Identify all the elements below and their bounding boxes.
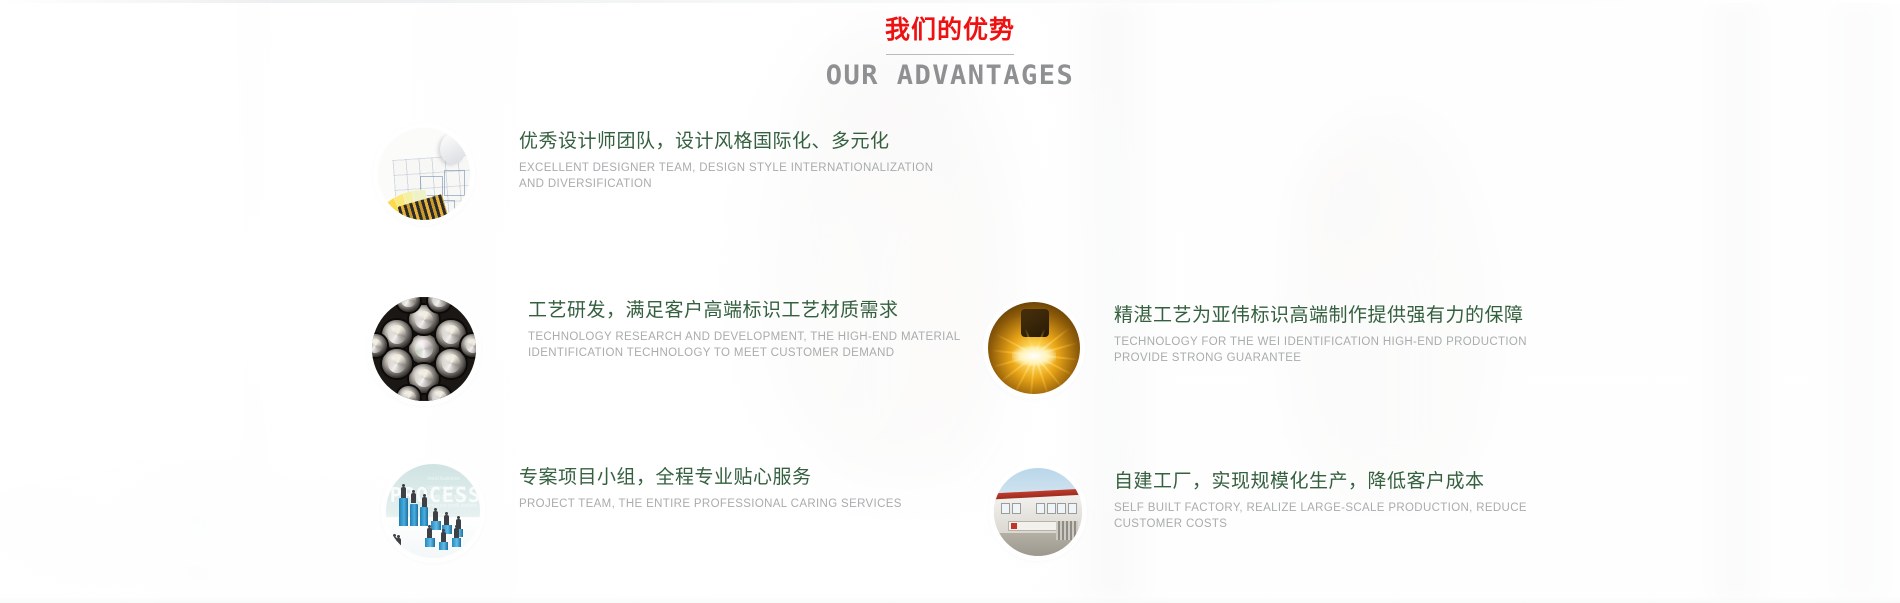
welding-sparks-photo xyxy=(988,302,1080,394)
section-header: 我们的优势 OUR ADVANTAGES xyxy=(0,18,1900,89)
advantage-copy-own-factory: 自建工厂，实现规模化生产，降低客户成本 SELF BUILT FACTORY, … xyxy=(1114,468,1584,533)
advantage-heading: 优秀设计师团队，设计风格国际化、多元化 xyxy=(519,130,989,154)
advantage-item-own-factory[interactable]: 自建工厂，实现规模化生产，降低客户成本 SELF BUILT FACTORY, … xyxy=(994,468,1584,556)
advantage-thumbnail-technology-rnd xyxy=(372,297,476,401)
advantage-thumbnail-exquisite-craft xyxy=(988,302,1080,394)
advantage-copy-project-team: 专案项目小组，全程专业贴心服务 PROJECT TEAM, THE ENTIRE… xyxy=(519,464,989,512)
advantage-thumbnail-designer-team xyxy=(378,128,470,220)
advantage-subtext-line1: EXCELLENT DESIGNER TEAM, DESIGN STYLE IN… xyxy=(519,160,989,177)
advantage-copy-designer-team: 优秀设计师团队，设计风格国际化、多元化 EXCELLENT DESIGNER T… xyxy=(519,128,989,193)
advantage-heading: 专案项目小组，全程专业贴心服务 xyxy=(519,466,989,490)
advantage-item-designer-team[interactable]: 优秀设计师团队，设计风格国际化、多元化 EXCELLENT DESIGNER T… xyxy=(378,128,989,220)
factory-building-photo xyxy=(994,468,1082,556)
advantage-item-project-team[interactable]: PROCESS trend business corporate finance… xyxy=(386,464,989,558)
advantage-subtext-line1: TECHNOLOGY FOR THE WEI IDENTIFICATION HI… xyxy=(1114,334,1594,351)
advantage-subtext-line2: IDENTIFICATION TECHNOLOGY TO MEET CUSTOM… xyxy=(528,345,1008,362)
advantage-item-technology-rnd[interactable]: 工艺研发，满足客户高端标识工艺材质需求 TECHNOLOGY RESEARCH … xyxy=(372,297,1008,401)
advantage-copy-technology-rnd: 工艺研发，满足客户高端标识工艺材质需求 TECHNOLOGY RESEARCH … xyxy=(528,297,1008,362)
page-subtitle: OUR ADVANTAGES xyxy=(0,62,1900,89)
advantage-heading: 精湛工艺为亚伟标识高端制作提供强有力的保障 xyxy=(1114,304,1594,328)
top-divider xyxy=(0,0,1900,3)
advantage-subtext-line1: PROJECT TEAM, THE ENTIRE PROFESSIONAL CA… xyxy=(519,496,989,513)
color-swatch-fan-blueprint-photo xyxy=(378,128,470,220)
advantage-subtext-line1: SELF BUILT FACTORY, REALIZE LARGE-SCALE … xyxy=(1114,500,1584,517)
advantages-section: 我们的优势 OUR ADVANTAGES xyxy=(0,0,1900,603)
advantage-heading: 工艺研发，满足客户高端标识工艺材质需求 xyxy=(528,299,1008,323)
advantage-subtext-line2: PROVIDE STRONG GUARANTEE xyxy=(1114,350,1594,367)
advantage-copy-exquisite-craft: 精湛工艺为亚伟标识高端制作提供强有力的保障 TECHNOLOGY FOR THE… xyxy=(1114,302,1594,367)
advantage-subtext-line2: AND DIVERSIFICATION xyxy=(519,176,989,193)
metal-pipe-bundle-photo xyxy=(372,297,476,401)
bottom-divider xyxy=(0,597,1900,603)
advantage-thumbnail-own-factory xyxy=(994,468,1082,556)
advantage-heading: 自建工厂，实现规模化生产，降低客户成本 xyxy=(1114,470,1584,494)
advantage-thumbnail-project-team: PROCESS trend business corporate finance… xyxy=(386,464,480,558)
advantage-item-exquisite-craft[interactable]: 精湛工艺为亚伟标识高端制作提供强有力的保障 TECHNOLOGY FOR THE… xyxy=(988,302,1594,394)
advantage-subtext-line1: TECHNOLOGY RESEARCH AND DEVELOPMENT, THE… xyxy=(528,329,1008,346)
title-divider xyxy=(886,54,1014,55)
advantage-subtext-line2: CUSTOMER COSTS xyxy=(1114,516,1584,533)
page-title: 我们的优势 xyxy=(0,18,1900,43)
business-people-bar-chart-photo: PROCESS trend business corporate finance… xyxy=(386,464,480,558)
